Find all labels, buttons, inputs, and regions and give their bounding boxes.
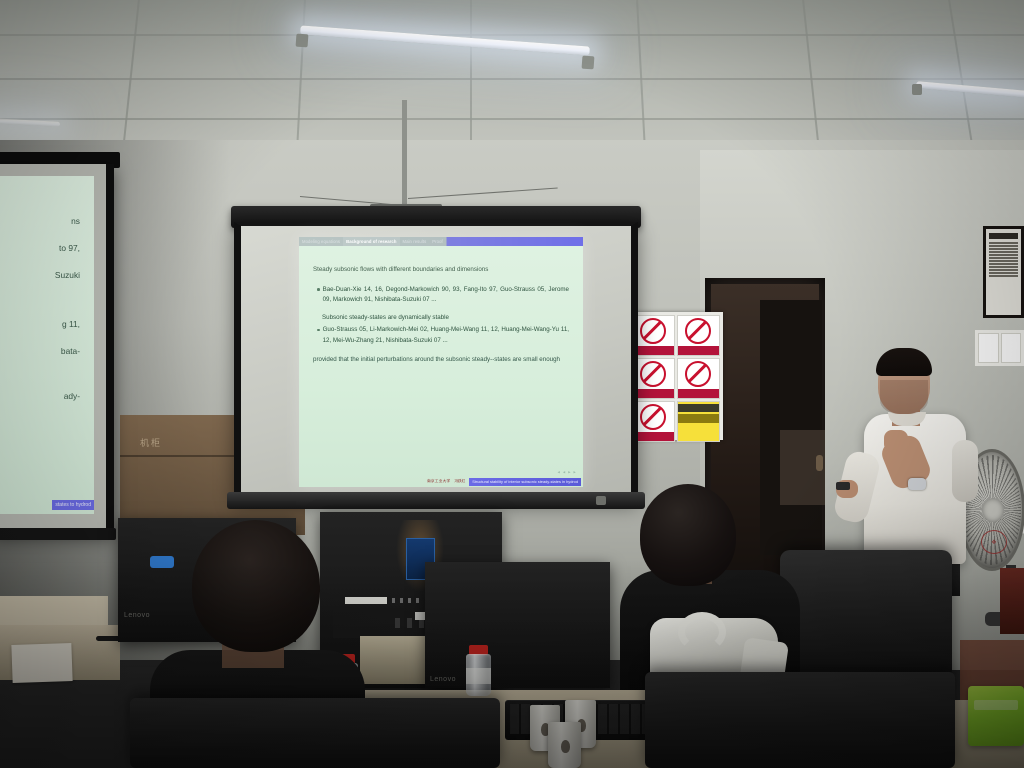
no-littering-icon bbox=[677, 358, 721, 399]
slide2-frag-3: g 11, bbox=[0, 311, 80, 338]
red-cabinet-right bbox=[1000, 568, 1024, 634]
presenter-right-hand bbox=[884, 430, 908, 452]
monitor-right bbox=[425, 562, 610, 688]
slide2-frag-4: bata- bbox=[0, 338, 80, 365]
presentation-clicker[interactable] bbox=[836, 482, 850, 490]
slide-header-tabs: Modeling equations Background of researc… bbox=[299, 237, 583, 246]
ceiling bbox=[0, 0, 1024, 150]
slide-footer: 南京工业大学 冯跃红 Structural stability of inter… bbox=[299, 476, 583, 487]
no-containers-icon bbox=[677, 315, 721, 356]
door-knob-icon[interactable] bbox=[816, 455, 823, 471]
ceiling-light-right bbox=[916, 81, 1024, 98]
bullet-dot-icon bbox=[317, 288, 320, 291]
safety-sign-cluster bbox=[628, 312, 723, 440]
slide-bullet-item: Bae-Duan-Xie 14, 16, Degond-Markowich 90… bbox=[317, 285, 569, 306]
projection-screen-weight-bar[interactable] bbox=[227, 492, 645, 509]
wristwatch-icon bbox=[908, 478, 926, 490]
bag-handle bbox=[678, 612, 726, 652]
sign-cluster-right bbox=[975, 330, 1024, 366]
slide-lead-text: Steady subsonic flows with different bou… bbox=[313, 265, 569, 276]
slide2-footer-title: states to hydrod bbox=[52, 500, 94, 510]
slide2-frag-0: ns bbox=[0, 208, 80, 235]
screen-pull-knob-icon[interactable] bbox=[596, 496, 606, 505]
door-dark-interior bbox=[760, 300, 822, 555]
cabinet-label: 机柜 bbox=[140, 436, 162, 449]
tissue-pack-band bbox=[974, 700, 1018, 710]
notice-board-icon bbox=[677, 401, 721, 442]
chair-foreground-right[interactable] bbox=[645, 672, 955, 768]
secondary-slide-projection: ns to 97, Suzuki g 11, bata- ady- states… bbox=[0, 176, 94, 514]
slide-body: Steady subsonic flows with different bou… bbox=[299, 246, 583, 474]
screen-ceiling-mount bbox=[402, 100, 407, 210]
lecture-room-photo: 机柜 ns to 97, Suzuki g 11, bata- ady- sta… bbox=[0, 0, 1024, 768]
presenter-right-arm bbox=[952, 440, 978, 502]
paper-cup bbox=[548, 722, 581, 768]
presenter-face-shadow bbox=[880, 380, 928, 414]
device-indicator-dots bbox=[392, 598, 422, 603]
slide-bullet-0-text: Bae-Duan-Xie 14, 16, Degond-Markowich 90… bbox=[323, 285, 569, 306]
fan-brand-badge-icon: ❖ bbox=[981, 530, 1007, 554]
slide2-frag-1: to 97, bbox=[0, 235, 80, 262]
slide2-frag-2: Suzuki bbox=[0, 262, 80, 289]
secondary-screen-bottom-bar bbox=[0, 528, 116, 540]
chair-foreground-left[interactable] bbox=[130, 698, 500, 768]
bullet-dot-icon bbox=[317, 329, 320, 332]
projected-slide: Modeling equations Background of researc… bbox=[299, 237, 583, 487]
slide-bullet-1-text: Guo-Strauss 05, Li-Markowich-Mei 02, Hua… bbox=[323, 325, 569, 346]
attendee-left-head bbox=[192, 520, 320, 652]
monitor-left-brand: Lenovo bbox=[124, 612, 150, 619]
slide-tab-main-results[interactable]: Main results bbox=[400, 237, 430, 246]
device-light-strip bbox=[345, 597, 387, 604]
slide-bullet-item: Guo-Strauss 05, Li-Markowich-Mei 02, Hua… bbox=[317, 325, 569, 346]
slide-tab-proof[interactable]: Proof bbox=[429, 237, 446, 246]
paper-sheet bbox=[11, 643, 72, 683]
slide-tab-background-of-research[interactable]: Background of research bbox=[343, 237, 399, 246]
footer-author: 冯跃红 bbox=[454, 479, 465, 484]
slide-tab-modeling-equations[interactable]: Modeling equations bbox=[299, 237, 343, 246]
footer-presentation-title: Structural stability of interior subsoni… bbox=[469, 478, 581, 486]
bottle-label bbox=[466, 668, 491, 684]
monitor-right-brand: Lenovo bbox=[430, 676, 456, 683]
attendee-right-head bbox=[640, 484, 736, 586]
chair-back-right[interactable] bbox=[780, 550, 952, 680]
monitor-left-sticker bbox=[150, 556, 174, 568]
left-desk-upper bbox=[0, 596, 108, 628]
footer-university: 南京工业大学 bbox=[427, 479, 450, 484]
slide2-frag-5: ady- bbox=[0, 383, 80, 410]
tissue-pack bbox=[968, 686, 1024, 746]
ceiling-light-center bbox=[300, 25, 590, 55]
slide-sub-note: Subsonic steady-states are dynamically s… bbox=[322, 313, 569, 324]
framed-notice-poster bbox=[983, 226, 1024, 318]
slide-tail-text: provided that the initial perturbations … bbox=[313, 355, 569, 366]
slide-navigation-controls[interactable]: ◀ ◀ ▶ ▶ bbox=[558, 470, 577, 474]
